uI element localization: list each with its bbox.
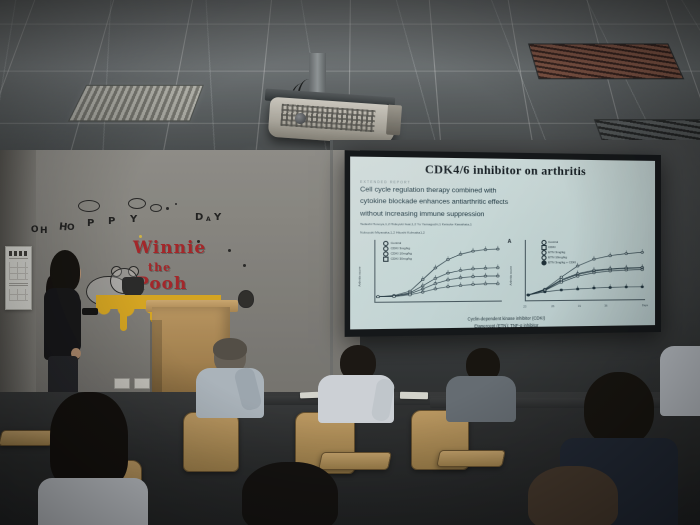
wall-letter-5: P: [108, 216, 115, 227]
attendee-torso: [660, 346, 700, 416]
slide-heading-line-3: without increasing immune suppression: [360, 210, 655, 220]
slide-figures: Arthritis score Control CDKI 3mg/kg CDKI…: [350, 238, 655, 316]
chart-right-xlabel: Days: [642, 304, 648, 307]
wall-letter-9: Y: [214, 212, 221, 223]
chart-right-plot: [525, 240, 644, 301]
attendee-torso: [446, 376, 516, 422]
poster-table-2: [9, 289, 28, 301]
attendee-hair: [242, 462, 338, 525]
wall-dot-5: [228, 249, 231, 252]
wall-letter-6: Y: [130, 214, 137, 225]
wall-letter-1: H: [40, 226, 48, 236]
chart-right-ylabel: Arthritis score: [508, 266, 512, 285]
presentation-clicker: [82, 308, 98, 315]
wall-notice-poster: [5, 246, 32, 310]
chart-left: Arthritis score Control CDKI 3mg/kg CDKI…: [359, 238, 503, 316]
wall-cloud-3: [150, 204, 162, 212]
attendee-front-left: [36, 392, 148, 525]
attendee-mid-right: [446, 348, 518, 414]
wall-cloud-2: [128, 198, 146, 209]
wall-letter-7: D: [195, 212, 203, 223]
chart-right-xtick-2: 31: [578, 305, 581, 308]
attendee-hair: [50, 392, 128, 488]
wall-outlet-left: [114, 378, 130, 389]
attendee-hair: [528, 466, 618, 525]
piglet-mural: [236, 288, 254, 308]
chart-right-xtick-0: 23: [523, 305, 526, 308]
pooh-honey-pot: [122, 277, 144, 297]
slide-authors-line-2: Nobuyuki Miyasaka,1,2 Hitoshi Kohsaka1,2: [360, 230, 655, 235]
presenter-arm: [68, 296, 81, 352]
poster-table: [9, 262, 28, 280]
chart-right: A Arthritis score Control CDKI ETN 3mg/k…: [510, 238, 647, 314]
wall-dot-6: [243, 264, 246, 267]
lecture-room-photo: O H H O P P Y D A Y Winnie the Pooh: [0, 0, 700, 525]
slide-authors-line-1: Tadashi Hosoya,1,2 Hideyuki Iwai,1,2 Yu …: [360, 222, 655, 227]
projection-screen: CDK4/6 inhibitor on arthritis EXTENDED R…: [345, 150, 661, 337]
chart-left-plot: [375, 240, 500, 303]
wall-letter-0: O: [31, 225, 39, 236]
desk-paper-2: [400, 392, 428, 399]
presentation-slide: CDK4/6 inhibitor on arthritis EXTENDED R…: [350, 157, 655, 330]
attendee-mid-center: [318, 345, 396, 415]
attendee-head: [584, 372, 654, 446]
chart-right-xtick-3: 36: [604, 304, 607, 307]
poster-rule-2: [9, 283, 28, 284]
wall-dot-1: [166, 207, 169, 210]
ceiling-projector: [247, 55, 412, 150]
slide-heading-line-1: Cell cycle regulation therapy combined w…: [360, 186, 655, 197]
presenter-hair: [50, 250, 80, 292]
poster-heading-bar: [9, 251, 28, 256]
attendee-front-center: [230, 462, 350, 525]
wall-letter-3: O: [67, 223, 75, 233]
wall-cloud-1: [78, 200, 100, 212]
chart-right-panel-letter: A: [508, 239, 512, 245]
attendee-torso: [38, 478, 148, 525]
presenter: [38, 250, 90, 410]
wall-outlet-right: [134, 378, 150, 389]
attendee-edge-right: [660, 336, 700, 416]
projector-side-panel: [386, 105, 402, 136]
chair-tablet-arm-3: [436, 450, 506, 467]
wall-title-winnie: Winnie: [133, 238, 206, 258]
poster-rule-3: [9, 285, 28, 286]
slide-title: CDK4/6 inhibitor on arthritis: [350, 163, 655, 179]
poster-rule: [9, 258, 28, 259]
attendee-hair: [213, 338, 247, 360]
chart-right-xtick-1: 26: [551, 305, 554, 308]
wall-title-the: the: [148, 261, 171, 274]
honey-drip-1: [120, 309, 127, 331]
chart-left-ylabel: Arthritis score: [357, 266, 361, 286]
wall-dot-2: [175, 203, 177, 205]
piglet-body: [238, 290, 254, 308]
wall-letter-8: A: [206, 216, 211, 223]
attendee-far-right: [528, 466, 632, 525]
slide-heading-line-2: cytokine blockade enhances antiarthritic…: [360, 198, 655, 209]
attendee-mid-left: [196, 340, 266, 410]
wall-letter-4: P: [87, 218, 94, 229]
